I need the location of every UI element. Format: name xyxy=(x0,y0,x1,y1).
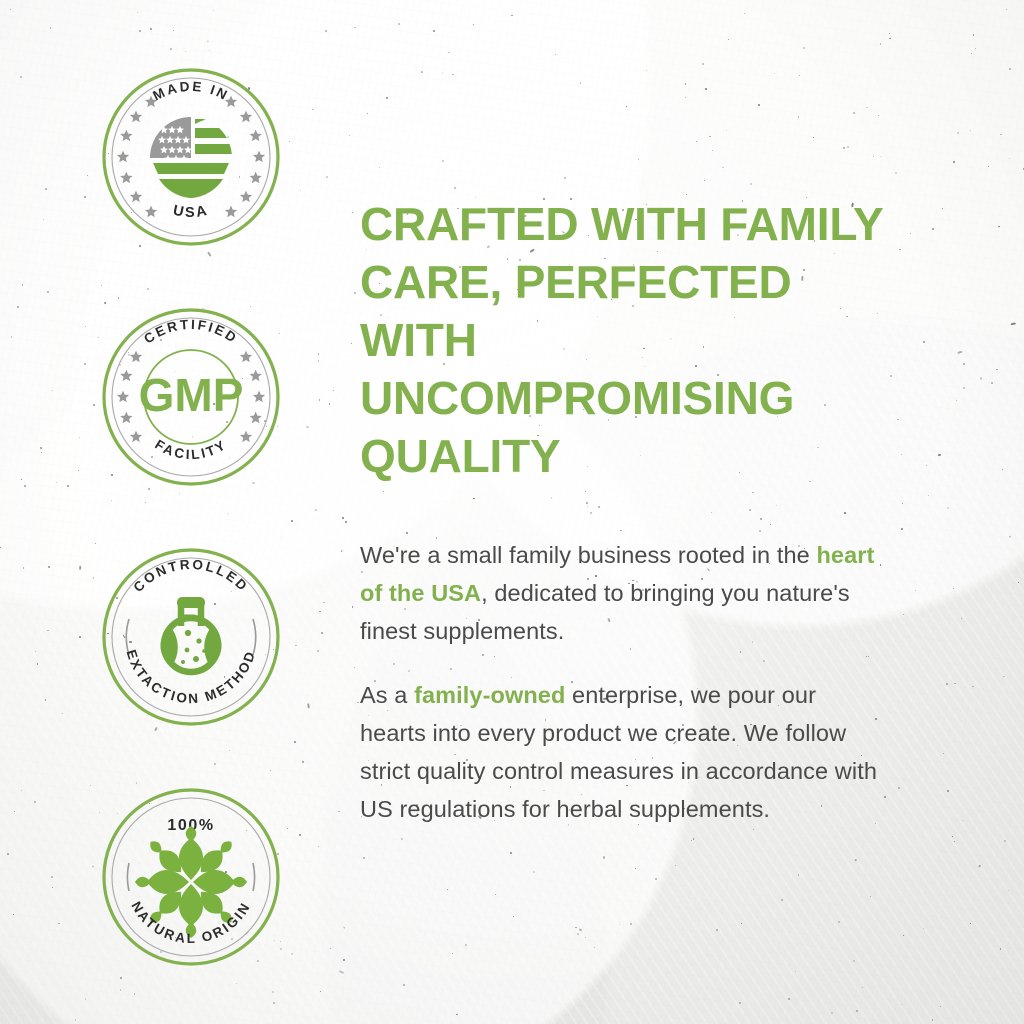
body-copy: We're a small family business rooted in … xyxy=(360,536,880,828)
badge-controlled-extaction-method: CONTROLLED EXTACTION METHOD xyxy=(96,542,286,732)
decorative-arc-right xyxy=(253,619,256,655)
leaf-icon xyxy=(147,870,189,894)
headline-line-2: CARE, PERFECTED WITH xyxy=(360,254,920,370)
flask-leaf-icon xyxy=(160,597,221,672)
star-icon xyxy=(250,412,262,424)
star-icon xyxy=(117,391,129,403)
star-icon xyxy=(253,151,265,163)
star-icon xyxy=(240,351,252,363)
star-icon xyxy=(240,191,252,203)
flag-bottom-stripe xyxy=(162,182,220,198)
leaf-icon xyxy=(193,870,235,894)
star-icon xyxy=(253,391,265,403)
badge-bottom-arc-text: FACILITY xyxy=(152,437,229,462)
star-icon xyxy=(130,431,142,443)
star-icon xyxy=(130,111,142,123)
paragraph-2: As a family-owned enterprise, we pour ou… xyxy=(360,676,880,828)
badge-gmp-certified-facility: GMP CERTIFIED FACILITY xyxy=(96,302,286,492)
star-icon xyxy=(120,412,132,424)
paragraph-1: We're a small family business rooted in … xyxy=(360,536,880,650)
gmp-text-icon: GMP xyxy=(139,369,244,421)
star-icon xyxy=(117,151,129,163)
badge-bottom-arc-text: USA xyxy=(172,203,211,221)
star-icon xyxy=(130,351,142,363)
badge-bottom-arc-text: EXTACTION METHOD xyxy=(124,648,259,706)
leaf-icon xyxy=(179,884,203,926)
star-icon xyxy=(145,206,157,218)
badge-top-arc-text: CERTIFIED xyxy=(141,317,241,347)
trust-badge-column: MADE IN USA GMP xyxy=(96,62,288,1022)
headline: CRAFTED WITH FAMILYCARE, PERFECTED WITHU… xyxy=(360,196,920,486)
star-icon xyxy=(240,111,252,123)
star-icon xyxy=(130,191,142,203)
leaf-icon xyxy=(179,838,203,880)
emphasis-text: family-owned xyxy=(414,682,565,708)
decorative-arc-left xyxy=(127,863,129,891)
headline-line-1: CRAFTED WITH FAMILY xyxy=(360,196,920,254)
star-icon xyxy=(120,370,132,382)
headline-line-3: UNCOMPROMISING xyxy=(360,370,920,428)
paragraph-text: As a xyxy=(360,682,414,708)
star-icon xyxy=(240,431,252,443)
headline-line-4: QUALITY xyxy=(360,428,920,486)
badge-made-in-usa: MADE IN USA xyxy=(96,62,286,252)
decorative-arc-left xyxy=(126,619,129,655)
star-icon xyxy=(250,130,262,142)
paragraph-text: We're a small family business rooted in … xyxy=(360,542,816,568)
badge-natural-origin: 100% NATURAL ORIGIN xyxy=(96,782,286,972)
text-column: CRAFTED WITH FAMILYCARE, PERFECTED WITHU… xyxy=(360,196,920,828)
star-icon xyxy=(225,206,237,218)
star-icon xyxy=(120,130,132,142)
star-icon xyxy=(250,370,262,382)
badge-top-arc-text: MADE IN xyxy=(151,79,232,104)
promo-graphic: MADE IN USA GMP xyxy=(0,0,1024,1024)
decorative-arc-right xyxy=(253,863,255,891)
star-icon xyxy=(250,172,262,184)
star-icon xyxy=(120,172,132,184)
